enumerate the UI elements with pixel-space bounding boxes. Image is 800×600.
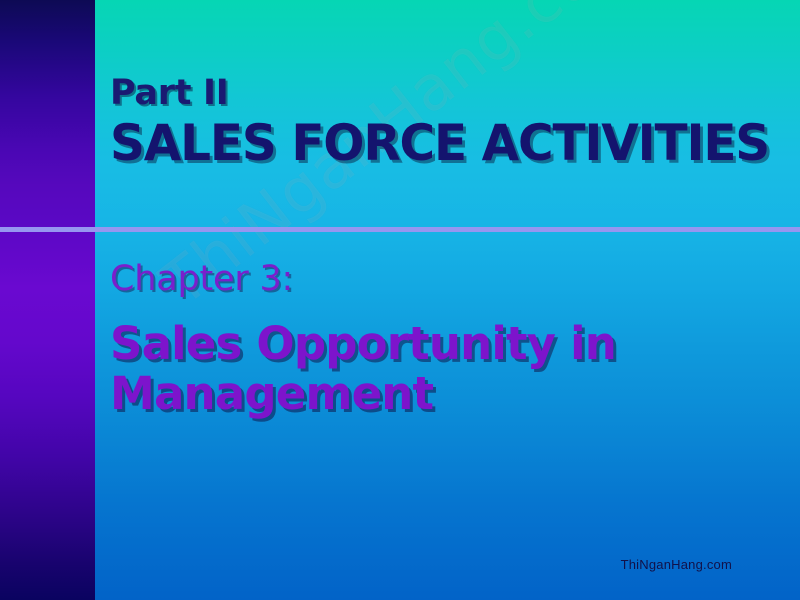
chapter-title: Sales Opportunity in Management bbox=[110, 319, 670, 420]
part-label: Part II bbox=[110, 76, 770, 111]
part-title: SALES FORCE ACTIVITIES bbox=[110, 117, 750, 169]
title-block: Part II SALES FORCE ACTIVITIES bbox=[110, 76, 770, 169]
chapter-label: Chapter 3: bbox=[110, 262, 770, 297]
presentation-slide: ThiNganHang.com Part II SALES FORCE ACTI… bbox=[0, 0, 800, 600]
bottom-watermark: ThiNganHang.com bbox=[621, 557, 732, 572]
horizontal-divider-line bbox=[0, 227, 800, 232]
left-sidebar-band bbox=[0, 0, 95, 600]
subtitle-block: Chapter 3: Sales Opportunity in Manageme… bbox=[110, 262, 770, 420]
